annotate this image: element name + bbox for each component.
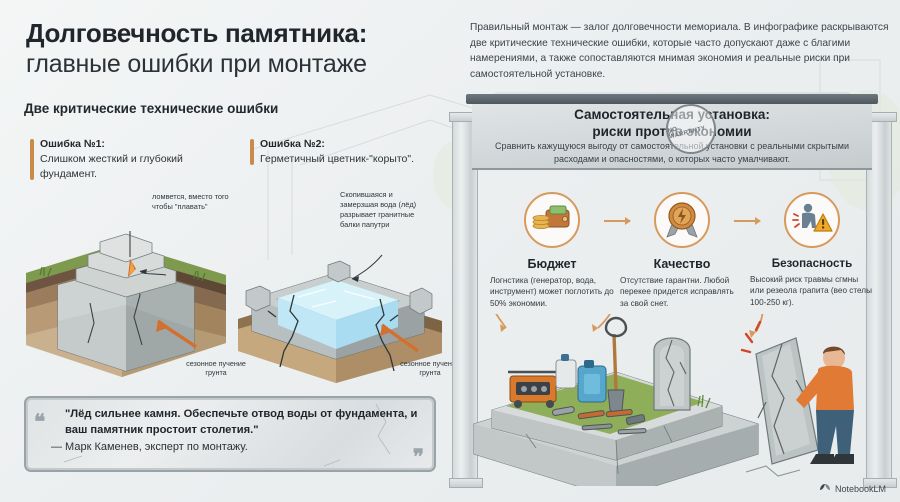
section-heading-errors: Две критические технические ошибки <box>24 101 278 116</box>
infographic-page: Долговечность памятника: главные ошибки … <box>0 0 900 502</box>
intro-paragraph: Правильный монтаж — залог долговечности … <box>470 20 890 82</box>
quote-content: "Лёд сильнее камня. Обеспечьте отвод вод… <box>37 406 423 453</box>
quote-text: "Лёд сильнее камня. Обеспечьте отвод вод… <box>65 406 423 438</box>
footer-brand-text: NotebookLM <box>835 484 886 494</box>
risk-card-safety: Безопасность Высокий риск травмы сгмны и… <box>748 192 876 308</box>
risk-card-quality-desc: Отсутствие гарантни. Любой перекее приде… <box>618 275 746 309</box>
diy-installation-scene <box>466 314 878 486</box>
wallet-coins-icon <box>524 192 580 248</box>
error-1-title: Ошибка №1: <box>40 137 230 152</box>
page-title: Долговечность памятника: главные ошибки … <box>26 18 446 79</box>
error-1-desc: Слишком жесткий и глубокий фундамент. <box>40 152 230 182</box>
risk-card-quality: Качество Отсутствие гарантни. Любой пере… <box>618 192 746 309</box>
broken-medal-icon <box>654 192 710 248</box>
error-1-callout-note: ломвется, вместо того чтобы "плавать" <box>152 192 230 212</box>
risk-card-budget: Бюджет Логнстика (генератор, вода, инстр… <box>488 192 616 309</box>
risk-card-safety-title: Безопасность <box>748 257 876 270</box>
injured-person-warning-icon <box>784 192 840 248</box>
title-line-1: Долговечность памятника: <box>26 18 446 49</box>
risk-card-safety-desc: Высокий риск травмы сгмны или резеола гр… <box>748 274 876 308</box>
quote-author: — Марк Каменев, эксперт по монтажу. <box>51 441 423 453</box>
risk-card-budget-title: Бюджет <box>488 257 616 271</box>
risk-card-quality-title: Качество <box>618 257 746 271</box>
no-warranty-stamp-text: NO WARRANTY <box>667 118 715 141</box>
error-card-2: Ошибка №2: Герметичный цветник-"корыто". <box>250 137 440 167</box>
expert-quote-block: ❝ ❞ "Лёд сильнее камня. Обеспечьте отвод… <box>24 396 436 472</box>
title-line-2: главные ошибки при монтаже <box>26 50 446 79</box>
self-installation-panel: Самостоятельная установка: риски против … <box>452 92 892 488</box>
error-1-soil-label: сезонное пучение грунта <box>176 359 256 378</box>
error-2-desc: Герметичный цветник-"корыто". <box>260 152 440 167</box>
error-card-1: Ошибка №1: Слишком жесткий и глубокий фу… <box>30 137 230 182</box>
notebooklm-logo-icon <box>819 483 831 495</box>
footer-brand: NotebookLM <box>819 483 886 495</box>
error-2-title: Ошибка №2: <box>260 137 440 152</box>
risk-card-budget-desc: Логнстика (генератор, вода, инструмент) … <box>488 275 616 309</box>
pediment-cornice <box>466 94 878 104</box>
